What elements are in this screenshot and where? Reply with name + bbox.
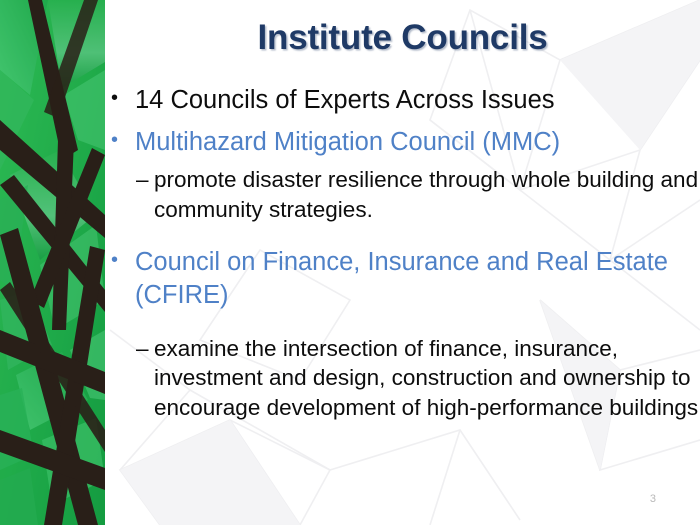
bullet-list: • 14 Councils of Experts Across Issues •… bbox=[111, 84, 700, 430]
spacer bbox=[111, 314, 700, 328]
spacer bbox=[111, 232, 700, 246]
sub-list-item: – promote disaster resilience through wh… bbox=[111, 165, 700, 224]
bullet-dot-icon: • bbox=[111, 246, 135, 275]
bullet-dot-icon: • bbox=[111, 84, 135, 113]
list-item: • 14 Councils of Experts Across Issues bbox=[111, 84, 700, 117]
green-geometric-structure-photo bbox=[0, 0, 105, 525]
list-item-text: Council on Finance, Insurance and Real E… bbox=[135, 246, 700, 312]
en-dash-icon: – bbox=[136, 165, 154, 194]
presentation-slide: Institute Councils • 14 Councils of Expe… bbox=[0, 0, 700, 525]
list-item: • Council on Finance, Insurance and Real… bbox=[111, 246, 700, 312]
list-item-text: Multihazard Mitigation Council (MMC) bbox=[135, 126, 700, 159]
slide-number: 3 bbox=[650, 493, 656, 505]
slide-content: Institute Councils • 14 Councils of Expe… bbox=[105, 0, 700, 525]
bullet-dot-icon: • bbox=[111, 126, 135, 155]
list-item: • Multihazard Mitigation Council (MMC) bbox=[111, 126, 700, 159]
sub-list-item-text: promote disaster resilience through whol… bbox=[154, 165, 700, 224]
en-dash-icon: – bbox=[136, 334, 154, 363]
list-item-text: 14 Councils of Experts Across Issues bbox=[135, 84, 700, 117]
sub-list-item: – examine the intersection of finance, i… bbox=[111, 334, 700, 422]
page-title: Institute Councils bbox=[105, 18, 700, 58]
spacer bbox=[111, 119, 700, 126]
sub-list-item-text: examine the intersection of finance, ins… bbox=[154, 334, 700, 422]
